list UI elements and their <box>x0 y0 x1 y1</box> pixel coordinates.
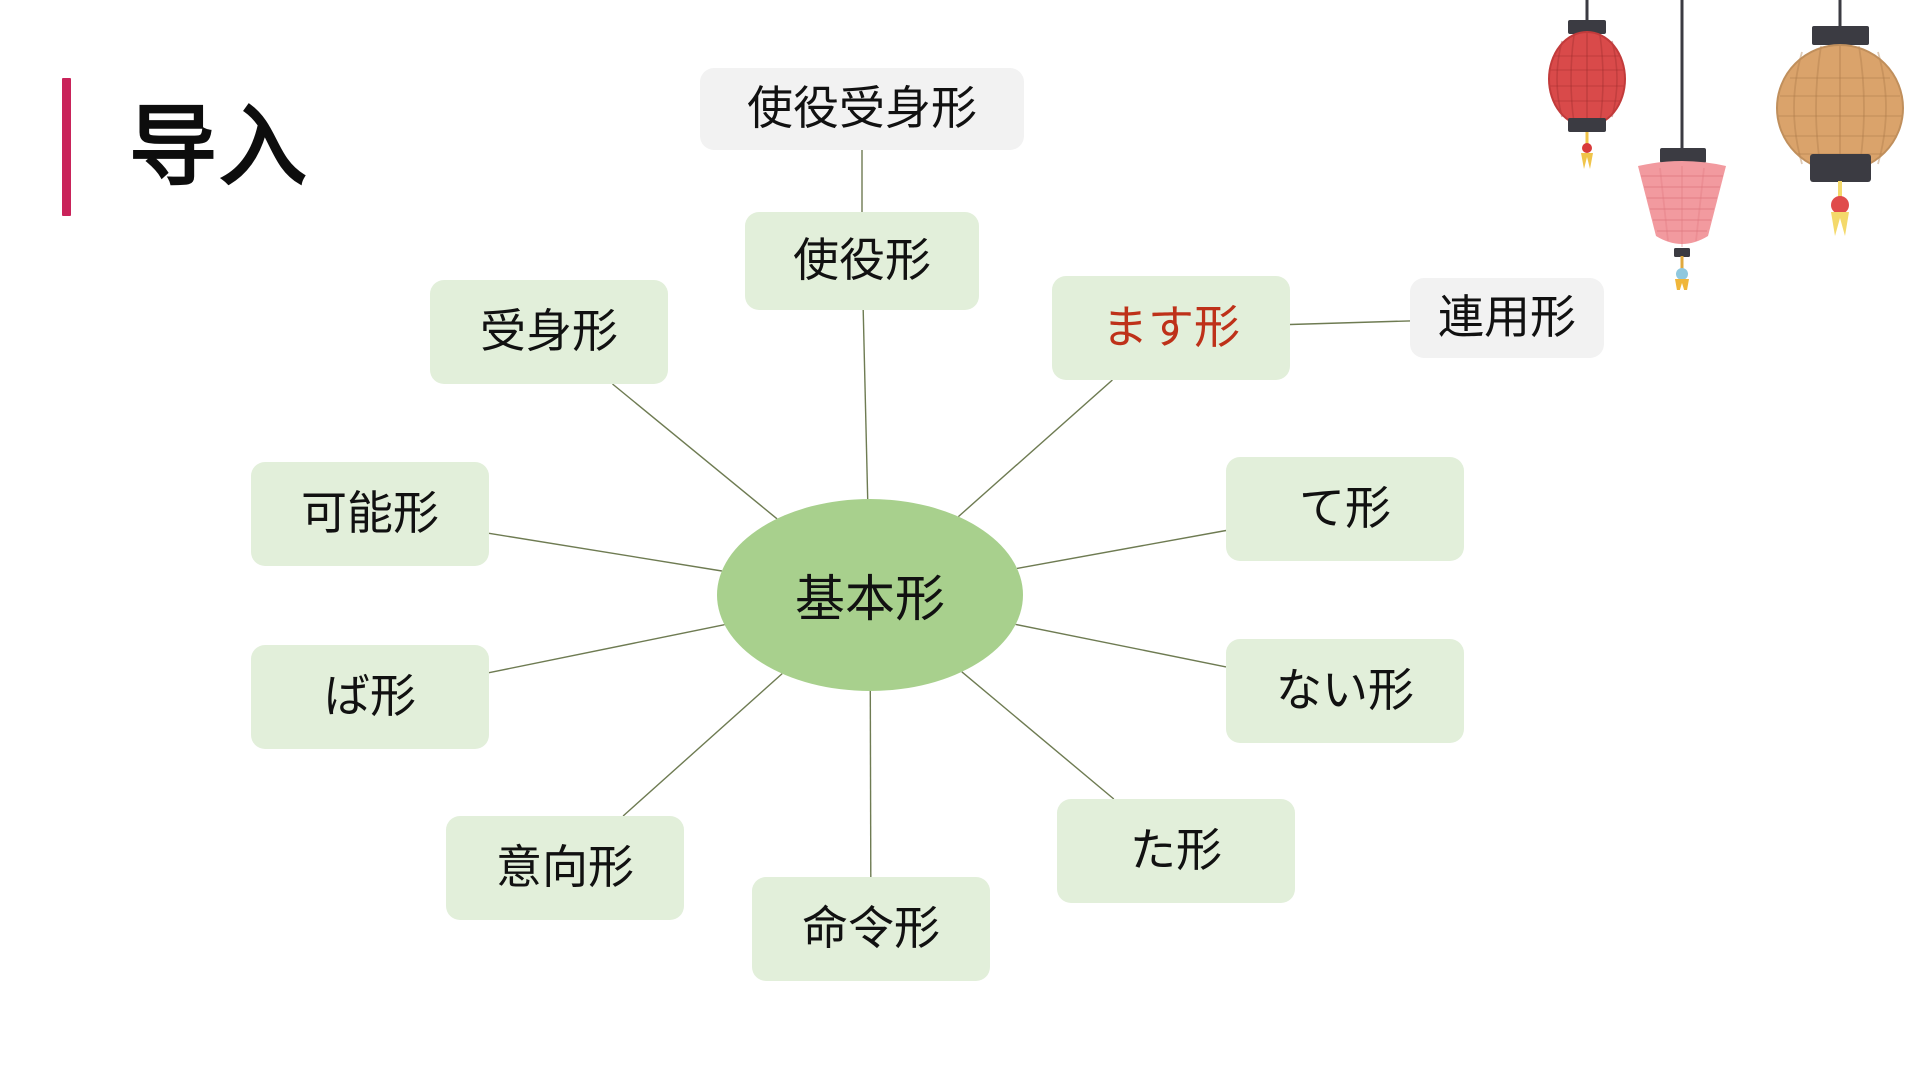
mindmap-center-label: 基本形 <box>795 559 945 631</box>
mindmap-node-label: 命令形 <box>802 906 940 952</box>
mindmap-node-label: 使役形 <box>793 238 931 284</box>
connector-kanou <box>489 533 722 571</box>
title-accent-bar <box>62 78 71 216</box>
lantern-tan-sphere-icon <box>1760 0 1920 246</box>
connector-ba <box>489 625 725 673</box>
mindmap-node-label: て形 <box>1299 486 1391 532</box>
connector-shieki <box>863 310 868 499</box>
connector-masu <box>958 380 1112 517</box>
slide-canvas: 导入 基本形 使役受身形使役形ます形連用形受身形可能形ば形意向形命令形た形ない形… <box>0 0 1920 1080</box>
title-label: 导入 <box>129 103 309 191</box>
mindmap-node-label: 受身形 <box>480 309 618 355</box>
connector-ikou <box>623 674 782 816</box>
mindmap-node-label: た形 <box>1130 828 1222 874</box>
mindmap-node-nai[interactable]: ない形 <box>1226 639 1464 743</box>
mindmap-node-masu[interactable]: ます形 <box>1052 276 1290 380</box>
connector-meirei <box>870 691 871 877</box>
connector-renyou <box>1290 321 1410 325</box>
connector-ta <box>962 672 1114 799</box>
lantern-pink-cone-icon <box>1612 0 1752 290</box>
connector-te <box>1017 531 1226 569</box>
mindmap-node-renyou[interactable]: 連用形 <box>1410 278 1604 358</box>
mindmap-node-kanou[interactable]: 可能形 <box>251 462 489 566</box>
mindmap-node-te[interactable]: て形 <box>1226 457 1464 561</box>
mindmap-node-label: ない形 <box>1276 668 1414 714</box>
mindmap-node-ta[interactable]: た形 <box>1057 799 1295 903</box>
page-title: 导入 <box>62 72 309 222</box>
mindmap-node-label: 使役受身形 <box>747 86 977 132</box>
mindmap-node-ukemi[interactable]: 受身形 <box>430 280 668 384</box>
mindmap-node-label: ます形 <box>1102 305 1240 351</box>
mindmap-node-meirei[interactable]: 命令形 <box>752 877 990 981</box>
connector-ukemi <box>613 384 778 519</box>
mindmap-center-node[interactable]: 基本形 <box>717 499 1023 691</box>
mindmap-node-label: ば形 <box>324 674 416 720</box>
mindmap-node-label: 意向形 <box>496 845 634 891</box>
mindmap-node-ikou[interactable]: 意向形 <box>446 816 684 920</box>
mindmap-node-shieki[interactable]: 使役形 <box>745 212 979 310</box>
connector-nai <box>1016 624 1226 667</box>
mindmap-node-label: 連用形 <box>1438 295 1576 341</box>
mindmap-node-ba[interactable]: ば形 <box>251 645 489 749</box>
mindmap-node-label: 可能形 <box>301 491 439 537</box>
mindmap-node-shieki-ukemi[interactable]: 使役受身形 <box>700 68 1024 150</box>
